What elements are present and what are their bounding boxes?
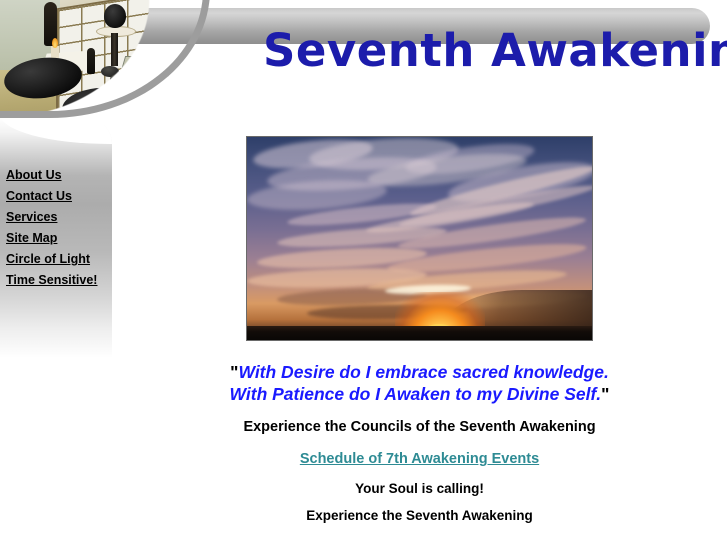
quote-close-mark: " <box>601 384 609 404</box>
sidebar-item-about-us[interactable]: About Us <box>0 166 112 187</box>
quote-line-2: With Patience do I Awaken to my Divine S… <box>230 384 602 404</box>
schedule-events-link[interactable]: Schedule of 7th Awakening Events <box>300 451 539 467</box>
sidebar: About Us Contact Us Services Site Map Ci… <box>0 118 112 358</box>
soul-calling-text: Your Soul is calling! <box>112 481 727 496</box>
clipped-bottom-text: Experience the Seventh Awakening <box>112 508 727 523</box>
quote-block: "With Desire do I embrace sacred knowled… <box>112 361 727 405</box>
site-title: Seventh Awakening <box>263 24 727 77</box>
sidebar-nav: About Us Contact Us Services Site Map Ci… <box>0 166 112 292</box>
horizon-silhouette <box>247 326 592 340</box>
sidebar-item-site-map[interactable]: Site Map <box>0 229 112 250</box>
main-content: "With Desire do I embrace sacred knowled… <box>112 130 727 523</box>
sidebar-item-circle-of-light[interactable]: Circle of Light <box>0 250 112 271</box>
sidebar-item-contact-us[interactable]: Contact Us <box>0 187 112 208</box>
site-header: Seventh Awakening <box>0 0 727 130</box>
sidebar-item-services[interactable]: Services <box>0 208 112 229</box>
hero-sunset-image <box>246 136 593 341</box>
quote-line-1: With Desire do I embrace sacred knowledg… <box>238 362 608 382</box>
tagline: Experience the Councils of the Seventh A… <box>112 419 727 435</box>
sidebar-top-curve <box>0 118 112 144</box>
sidebar-item-time-sensitive[interactable]: Time Sensitive! <box>0 271 112 292</box>
